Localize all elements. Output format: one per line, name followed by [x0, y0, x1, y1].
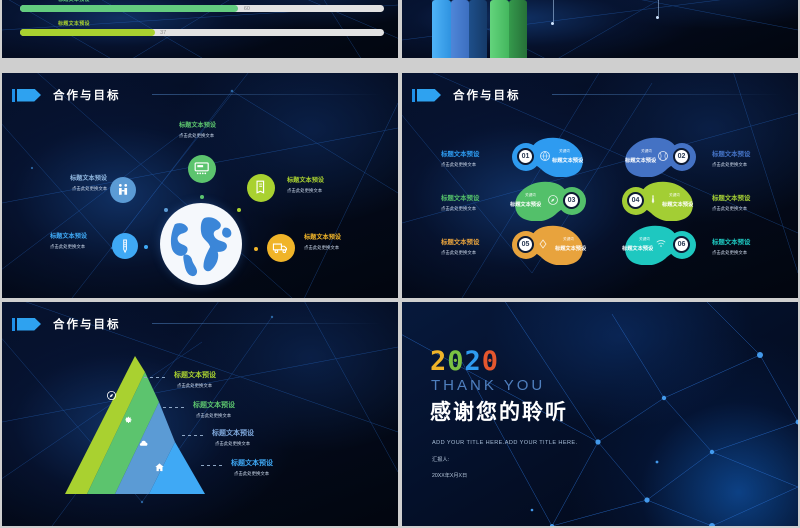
node-subtitle: 点击此处更换文本 [50, 244, 85, 250]
dumbbell-keyword: 关键词 [639, 237, 650, 242]
layer-title: 标题文本预设 [193, 400, 235, 410]
tick-dot [656, 16, 659, 19]
slide-thumbnail-4[interactable]: 合作与目标 01 关键词 标题文本预设 标题文本预设 点击此处更换文本 [402, 73, 798, 298]
dumbbell-text: 标题文本预设 [625, 157, 656, 164]
compass-icon [547, 194, 559, 206]
year-digit-2: 0 [447, 346, 464, 377]
dumbbell-text: 标题文本预设 [662, 201, 693, 208]
dumbbell-number: 03 [563, 192, 580, 209]
slide-thumbnail-5[interactable]: 合作与目标 标题文本预设 [2, 302, 398, 526]
section-header: 合作与目标 [12, 316, 121, 332]
connector-dot [237, 208, 241, 212]
node-title: 标题文本预设 [70, 173, 107, 182]
year-digit-3: 2 [465, 346, 482, 377]
slide-thumbnail-3[interactable]: 合作与目标 标题文本预设 [2, 73, 398, 298]
presenter-text: 汇报人: [432, 456, 449, 463]
node-subtitle: 点击此处更换文本 [287, 188, 322, 194]
dumbbell-number: 02 [673, 148, 690, 165]
dumbbell-text: 标题文本预设 [552, 157, 583, 164]
connector-dot [200, 195, 204, 199]
tick-line [658, 0, 659, 16]
layer-title: 标题文本预设 [212, 428, 254, 438]
section-title: 合作与目标 [53, 316, 121, 332]
leader-dash [182, 435, 204, 436]
dumbbell-shape-05[interactable]: 05 关键词 标题文本预设 [507, 225, 591, 265]
node-subtitle: 点击此处更换文本 [179, 133, 214, 139]
chart-column [451, 0, 469, 58]
progress-bar-label: 标题文本预设 [20, 20, 384, 27]
year-digit-4: 0 [482, 346, 499, 377]
compass-icon [106, 390, 117, 401]
node-subtitle: 点击此处更换文本 [304, 245, 339, 251]
section-header: 合作与目标 [12, 87, 121, 103]
chart-column [432, 0, 451, 58]
item-subtitle: 点击此处更换文本 [441, 162, 476, 168]
dumbbell-keyword: 关键词 [669, 193, 680, 198]
item-subtitle: 点击此处更换文本 [441, 206, 476, 212]
connector-dot [254, 247, 258, 251]
dumbbell-shape-01[interactable]: 01 关键词 标题文本预设 [507, 137, 591, 177]
node-subtitle: 点击此处更换文本 [72, 186, 107, 192]
gear-icon [122, 414, 133, 425]
item-title: 标题文本预设 [441, 237, 479, 246]
node-bubble-pencil[interactable] [112, 233, 138, 259]
dumbbell-number: 06 [673, 236, 690, 253]
tie-icon [647, 194, 659, 206]
header-arrow-icon [17, 318, 41, 331]
header-divider [152, 94, 382, 95]
node-title: 标题文本预设 [304, 232, 341, 241]
dumbbell-shape-06[interactable]: 06 关键词 标题文本预设 [617, 225, 701, 265]
baseball-icon [657, 150, 669, 162]
chart-column [509, 0, 527, 58]
header-accent-bar [12, 318, 15, 331]
truck-icon [272, 239, 289, 256]
node-title: 标题文本预设 [287, 175, 324, 184]
layer-subtitle: 点击此处更换文本 [196, 413, 231, 419]
progress-bar-row: 标题文本预设 37 [20, 20, 384, 36]
diamond-icon [537, 238, 549, 250]
progress-bar-fill [20, 5, 238, 12]
slide-thumbnail-6[interactable]: 2020 THANK YOU 感谢您的聆听 ADD YOUR TITLE HER… [402, 302, 798, 526]
layer-subtitle: 点击此处更换文本 [234, 471, 269, 477]
leader-dash [144, 377, 166, 378]
leader-dash [201, 465, 223, 466]
year-digit-1: 2 [430, 346, 447, 377]
wifi-icon [655, 237, 667, 249]
slide-thumbnail-1[interactable]: 标题文本预设 55 标题文本预设 60 标题文本预设 37 [2, 0, 398, 58]
layer-subtitle: 点击此处更换文本 [177, 383, 212, 389]
node-bubble-book[interactable] [247, 174, 275, 202]
node-bubble-monitor[interactable] [188, 155, 216, 183]
progress-bar-track[interactable]: 60 [20, 5, 384, 12]
connector-dot [144, 245, 148, 249]
progress-bar-fill [20, 29, 155, 36]
section-header: 合作与目标 [412, 87, 521, 103]
dumbbell-shape-03[interactable]: 03 关键词 标题文本预设 [507, 181, 591, 221]
globe-net-icon [539, 150, 551, 162]
dumbbell-text: 标题文本预设 [622, 245, 653, 252]
dumbbell-shape-04[interactable]: 04 关键词 标题文本预设 [617, 181, 701, 221]
dumbbell-text: 标题文本预设 [555, 245, 586, 252]
dumbbell-text: 标题文本预设 [510, 201, 541, 208]
tick-line [553, 0, 554, 22]
item-title: 标题文本预设 [712, 149, 750, 158]
header-divider [552, 94, 782, 95]
cloud-icon [138, 438, 149, 449]
connector-dot [164, 208, 168, 212]
polygon-network-decor [402, 73, 798, 298]
item-title: 标题文本预设 [441, 149, 479, 158]
dumbbell-keyword: 关键词 [559, 149, 570, 154]
dumbbell-keyword: 关键词 [525, 193, 536, 198]
section-title: 合作与目标 [453, 87, 521, 103]
year-2020: 2020 [430, 346, 499, 377]
globe-continents [160, 203, 242, 285]
date-text: 20XX年X月X日 [432, 472, 467, 479]
section-title: 合作与目标 [53, 87, 121, 103]
node-title: 标题文本预设 [50, 231, 87, 240]
dumbbell-keyword: 关键词 [563, 237, 574, 242]
item-title: 标题文本预设 [712, 193, 750, 202]
dumbbell-number: 01 [517, 148, 534, 165]
leader-dash [163, 407, 185, 408]
progress-bar-track[interactable]: 37 [20, 29, 384, 36]
tick-dot [551, 22, 554, 25]
monitor-icon [193, 160, 210, 177]
subtitle-text: ADD YOUR TITLE HERE.ADD YOUR TITLE HERE. [432, 440, 578, 446]
item-subtitle: 点击此处更换文本 [441, 250, 476, 256]
progress-bar-label: 标题文本预设 [20, 0, 384, 3]
book-icon [252, 179, 269, 196]
progress-bar-row: 标题文本预设 60 [20, 0, 384, 12]
dumbbell-number: 05 [517, 236, 534, 253]
globe-icon [160, 203, 242, 285]
item-subtitle: 点击此处更换文本 [712, 206, 747, 212]
node-title: 标题文本预设 [179, 120, 216, 129]
thank-you-text: THANK YOU [431, 377, 545, 394]
header-accent-bar [12, 89, 15, 102]
dumbbell-keyword: 关键词 [641, 149, 652, 154]
node-bubble-handshake[interactable] [110, 177, 136, 203]
chart-column [469, 0, 487, 58]
item-title: 标题文本预设 [712, 237, 750, 246]
home-icon [154, 462, 165, 473]
header-accent-bar [412, 89, 415, 102]
layer-title: 标题文本预设 [231, 458, 273, 468]
header-divider [152, 323, 382, 324]
handshake-icon [115, 182, 131, 198]
slide-thumbnail-grid: 标题文本预设 55 标题文本预设 60 标题文本预设 37 [0, 0, 800, 528]
dumbbell-shape-02[interactable]: 02 关键词 标题文本预设 [617, 137, 701, 177]
chart-column [490, 0, 509, 58]
header-arrow-icon [17, 89, 41, 102]
progress-bar-value: 37 [160, 30, 166, 36]
item-title: 标题文本预设 [441, 193, 479, 202]
node-bubble-truck[interactable] [267, 234, 295, 262]
header-arrow-icon [417, 89, 441, 102]
layer-subtitle: 点击此处更换文本 [215, 441, 250, 447]
item-subtitle: 点击此处更换文本 [712, 250, 747, 256]
item-subtitle: 点击此处更换文本 [712, 162, 747, 168]
headline-text: 感谢您的聆听 [430, 396, 568, 426]
layer-title: 标题文本预设 [174, 370, 216, 380]
pencil-icon [117, 238, 133, 254]
progress-bar-value: 60 [244, 6, 250, 12]
slide-thumbnail-2[interactable]: 75% 标题文本预设 点击此处更换文本 [402, 0, 798, 58]
dumbbell-number: 04 [627, 192, 644, 209]
